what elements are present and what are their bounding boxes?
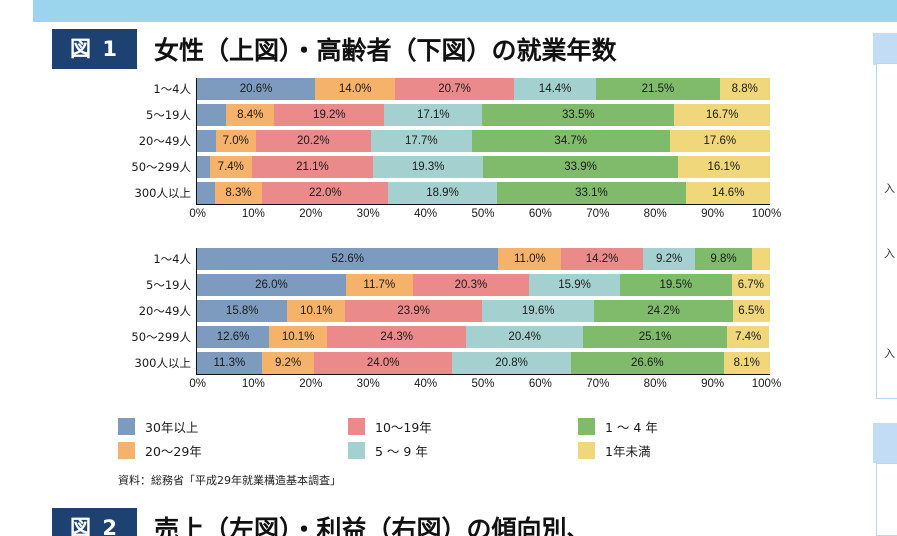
figure2-header: 図 2 売上（左図）・利益（右図）の傾向別、 (52, 508, 592, 536)
bar-segment: 14.2% (561, 248, 642, 270)
axis-tick-label: 70% (586, 378, 609, 390)
bar-segment: 17.6% (670, 130, 770, 152)
bar-segment: 26.0% (197, 274, 346, 296)
bar-segment: 8.8% (720, 78, 770, 100)
legend-label: 20〜29年 (145, 441, 202, 460)
sidebar-text-fragment-3: 入 (884, 345, 897, 361)
axis-tick-label: 40% (414, 378, 437, 390)
bar-segment: 20.6% (197, 78, 315, 100)
bar-segment: 19.6% (482, 300, 594, 322)
chart-women-tenure: 1〜4人20.6%14.0%20.7%14.4%21.5%8.8%5〜19人8.… (118, 78, 778, 224)
bar-row: 20〜49人15.8%10.1%23.9%19.6%24.2%6.5% (197, 300, 770, 322)
bar-segment: 22.0% (262, 182, 388, 204)
bar-segment: 20.4% (466, 326, 583, 348)
legend-swatch-icon (348, 442, 365, 459)
axis-tick-label: 60% (529, 208, 552, 220)
chart-legend: 30年以上10〜19年1 〜 4 年20〜29年5 〜 9 年1年未満 (118, 414, 678, 462)
bar-segment: 14.4% (514, 78, 597, 100)
bar-segment: 14.0% (315, 78, 395, 100)
chart1-x-axis: 0%10%20%30%40%50%60%70%80%90%100% (196, 204, 770, 224)
sidebar-text-fragment-1: 入 (884, 180, 897, 196)
axis-tick-label: 50% (471, 378, 494, 390)
bar-segment: 19.2% (274, 104, 384, 126)
legend-swatch-icon (348, 418, 365, 435)
bar-segment: 7.4% (210, 156, 252, 178)
bar-segment: 20.8% (452, 352, 571, 374)
axis-tick-label: 70% (586, 208, 609, 220)
bar-row: 50〜299人12.6%10.1%24.3%20.4%25.1%7.4% (197, 326, 770, 348)
sidebar-text-fragment-2: 入 (884, 245, 897, 261)
bar-segment (197, 130, 216, 152)
bar-row: 20〜49人7.0%20.2%17.7%34.7%17.6% (197, 130, 770, 152)
bar-segment: 21.5% (596, 78, 719, 100)
legend-item: 1 〜 4 年 (578, 417, 678, 436)
bar-segment: 19.3% (373, 156, 484, 178)
bar-segment: 9.8% (695, 248, 751, 270)
bar-segment: 21.1% (252, 156, 373, 178)
axis-tick-label: 30% (357, 208, 380, 220)
legend-item: 10〜19年 (348, 417, 578, 436)
axis-tick-label: 80% (644, 378, 667, 390)
bar-segment: 34.7% (472, 130, 670, 152)
figure1-header: 図 1 女性（上図）・高齢者（下図）の就業年数 (52, 29, 617, 69)
bar-segment: 20.3% (413, 274, 529, 296)
chart2-x-axis: 0%10%20%30%40%50%60%70%80%90%100% (196, 374, 770, 394)
bar-segment: 33.1% (497, 182, 687, 204)
legend-label: 1 〜 4 年 (605, 417, 658, 436)
bar-segment: 9.2% (643, 248, 696, 270)
bar-segment: 24.0% (314, 352, 452, 374)
legend-swatch-icon (118, 442, 135, 459)
bar-row-label: 1〜4人 (117, 78, 191, 100)
bar-segment: 7.4% (727, 326, 769, 348)
bar-segment: 20.2% (256, 130, 371, 152)
bar-segment: 15.8% (197, 300, 287, 322)
bar-row-label: 5〜19人 (117, 274, 191, 296)
bar-row-label: 20〜49人 (117, 130, 191, 152)
bar-segment: 8.1% (724, 352, 770, 374)
figure1-title: 女性（上図）・高齢者（下図）の就業年数 (154, 31, 617, 67)
chart1-plot-area: 1〜4人20.6%14.0%20.7%14.4%21.5%8.8%5〜19人8.… (196, 78, 770, 204)
legend-item: 30年以上 (118, 417, 348, 436)
axis-tick-label: 20% (299, 208, 322, 220)
bar-row: 1〜4人52.6%11.0%14.2%9.2%9.8% (197, 248, 770, 270)
bar-segment: 33.5% (482, 104, 674, 126)
legend-label: 1年未満 (605, 441, 650, 460)
bar-row-label: 5〜19人 (117, 104, 191, 126)
legend-swatch-icon (118, 418, 135, 435)
legend-label: 10〜19年 (375, 417, 432, 436)
source-note: 資料：総務省「平成29年就業構造基本調査」 (118, 472, 341, 488)
bar-segment: 10.1% (287, 300, 345, 322)
legend-item: 1年未満 (578, 441, 678, 460)
bar-row: 5〜19人8.4%19.2%17.1%33.5%16.7% (197, 104, 770, 126)
bar-row: 300人以上11.3%9.2%24.0%20.8%26.6%8.1% (197, 352, 770, 374)
bar-segment: 16.7% (674, 104, 770, 126)
bar-segment: 12.6% (197, 326, 269, 348)
bar-segment (197, 182, 215, 204)
figure1-badge: 図 1 (52, 29, 137, 69)
bar-segment: 14.6% (686, 182, 770, 204)
bar-segment: 17.7% (371, 130, 472, 152)
axis-tick-label: 50% (471, 208, 494, 220)
bar-segment (197, 156, 210, 178)
bar-row-label: 50〜299人 (117, 326, 191, 348)
bar-segment: 33.9% (483, 156, 677, 178)
bar-row: 300人以上8.3%22.0%18.9%33.1%14.6% (197, 182, 770, 204)
bar-segment: 10.1% (269, 326, 327, 348)
bar-row: 5〜19人26.0%11.7%20.3%15.9%19.5%6.7% (197, 274, 770, 296)
bar-segment: 25.1% (583, 326, 727, 348)
bar-row-label: 300人以上 (117, 352, 191, 374)
bar-segment: 6.7% (732, 274, 770, 296)
bar-segment: 11.7% (346, 274, 413, 296)
chart2-plot-area: 1〜4人52.6%11.0%14.2%9.2%9.8%5〜19人26.0%11.… (196, 248, 770, 374)
bar-segment: 24.2% (594, 300, 733, 322)
page-root: 入 入 入 図 1 女性（上図）・高齢者（下図）の就業年数 1〜4人20.6%1… (0, 0, 897, 536)
legend-item: 5 〜 9 年 (348, 441, 578, 460)
bar-segment: 26.6% (571, 352, 723, 374)
figure2-badge: 図 2 (52, 508, 137, 536)
bar-segment: 8.4% (226, 104, 274, 126)
sidebar-card-bottom (873, 423, 897, 463)
bar-segment: 7.0% (216, 130, 256, 152)
bar-segment: 52.6% (197, 248, 498, 270)
bar-segment: 23.9% (345, 300, 482, 322)
axis-tick-label: 80% (644, 208, 667, 220)
bar-segment: 11.3% (197, 352, 262, 374)
bar-segment: 20.7% (395, 78, 514, 100)
bar-segment: 9.2% (262, 352, 315, 374)
bar-row-label: 20〜49人 (117, 300, 191, 322)
legend-item: 20〜29年 (118, 441, 348, 460)
axis-tick-label: 20% (299, 378, 322, 390)
figure2-title: 売上（左図）・利益（右図）の傾向別、 (154, 510, 592, 536)
axis-tick-label: 10% (242, 378, 265, 390)
bar-segment: 15.9% (529, 274, 620, 296)
axis-tick-label: 100% (752, 208, 781, 220)
bar-segment: 17.1% (384, 104, 482, 126)
bar-row: 50〜299人7.4%21.1%19.3%33.9%16.1% (197, 156, 770, 178)
bar-segment: 16.1% (678, 156, 770, 178)
bar-row: 1〜4人20.6%14.0%20.7%14.4%21.5%8.8% (197, 78, 770, 100)
legend-label: 5 〜 9 年 (375, 441, 428, 460)
axis-tick-label: 10% (242, 208, 265, 220)
bar-segment: 6.5% (733, 300, 770, 322)
sidebar-card-top (873, 33, 897, 65)
axis-tick-label: 90% (701, 378, 724, 390)
legend-swatch-icon (578, 442, 595, 459)
axis-tick-label: 60% (529, 378, 552, 390)
bar-segment: 19.5% (620, 274, 732, 296)
bar-segment: 8.3% (215, 182, 263, 204)
bar-segment: 24.3% (327, 326, 466, 348)
bar-segment: 18.9% (388, 182, 496, 204)
bar-segment: 11.0% (498, 248, 561, 270)
bar-row-label: 300人以上 (117, 182, 191, 204)
axis-tick-label: 100% (752, 378, 781, 390)
axis-tick-label: 0% (189, 378, 206, 390)
axis-tick-label: 0% (189, 208, 206, 220)
axis-tick-label: 90% (701, 208, 724, 220)
sidebar-panel-lower (876, 463, 897, 536)
bar-row-label: 50〜299人 (117, 156, 191, 178)
axis-tick-label: 40% (414, 208, 437, 220)
bar-segment (197, 104, 226, 126)
axis-tick-label: 30% (357, 378, 380, 390)
top-banner (33, 0, 897, 22)
bar-row-label: 1〜4人 (117, 248, 191, 270)
legend-label: 30年以上 (145, 417, 198, 436)
chart-elderly-tenure: 1〜4人52.6%11.0%14.2%9.2%9.8%5〜19人26.0%11.… (118, 248, 778, 394)
bar-segment (752, 248, 770, 270)
legend-swatch-icon (578, 418, 595, 435)
